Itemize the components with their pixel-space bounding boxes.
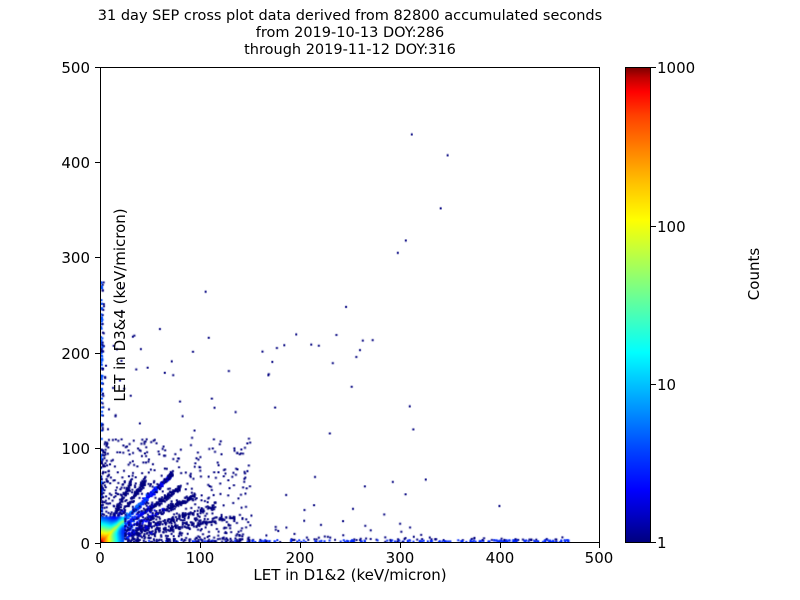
colorbar-label-1000: 1000 bbox=[657, 59, 695, 77]
title-line-3: through 2019-11-12 DOY:316 bbox=[0, 42, 700, 59]
y-tick-0 bbox=[95, 543, 100, 544]
scatter-data-layer bbox=[101, 68, 599, 542]
y-ticklabel-500: 500 bbox=[26, 59, 90, 77]
x-ticklabel-200: 200 bbox=[265, 549, 335, 567]
y-axis-label: LET in D3&4 (keV/micron) bbox=[111, 67, 129, 543]
y-tick-200 bbox=[95, 353, 100, 354]
x-tick-0 bbox=[100, 543, 101, 548]
colorbar-label-100: 100 bbox=[657, 218, 686, 236]
colorbar-label-1: 1 bbox=[657, 534, 667, 552]
x-tick-100 bbox=[200, 543, 201, 548]
colorbar-tick-10 bbox=[651, 384, 656, 385]
x-ticklabel-400: 400 bbox=[465, 549, 535, 567]
y-ticklabel-400: 400 bbox=[26, 154, 90, 172]
y-tick-100 bbox=[95, 448, 100, 449]
x-tick-400 bbox=[500, 543, 501, 548]
y-ticklabel-200: 200 bbox=[26, 345, 90, 363]
x-tick-500 bbox=[599, 543, 600, 548]
y-tick-400 bbox=[95, 162, 100, 163]
x-axis-label: LET in D1&2 (keV/micron) bbox=[100, 566, 600, 584]
colorbar-label-10: 10 bbox=[657, 376, 676, 394]
colorbar-tick-1 bbox=[651, 542, 656, 543]
y-ticklabel-0: 0 bbox=[26, 535, 90, 553]
y-ticklabel-100: 100 bbox=[26, 440, 90, 458]
x-ticklabel-100: 100 bbox=[165, 549, 235, 567]
y-tick-500 bbox=[95, 67, 100, 68]
title-line-2: from 2019-10-13 DOY:286 bbox=[0, 25, 700, 42]
plot-area[interactable] bbox=[100, 67, 600, 543]
colorbar[interactable] bbox=[625, 67, 651, 543]
colorbar-gradient bbox=[625, 67, 651, 543]
x-ticklabel-300: 300 bbox=[365, 549, 435, 567]
title-line-1: 31 day SEP cross plot data derived from … bbox=[0, 8, 700, 25]
colorbar-tick-100 bbox=[651, 226, 656, 227]
colorbar-tick-1000 bbox=[651, 67, 656, 68]
x-tick-200 bbox=[300, 543, 301, 548]
x-ticklabel-500: 500 bbox=[564, 549, 634, 567]
colorbar-title: Counts bbox=[745, 154, 763, 394]
chart-title: 31 day SEP cross plot data derived from … bbox=[0, 8, 700, 59]
x-tick-300 bbox=[400, 543, 401, 548]
y-ticklabel-300: 300 bbox=[26, 249, 90, 267]
y-tick-300 bbox=[95, 257, 100, 258]
